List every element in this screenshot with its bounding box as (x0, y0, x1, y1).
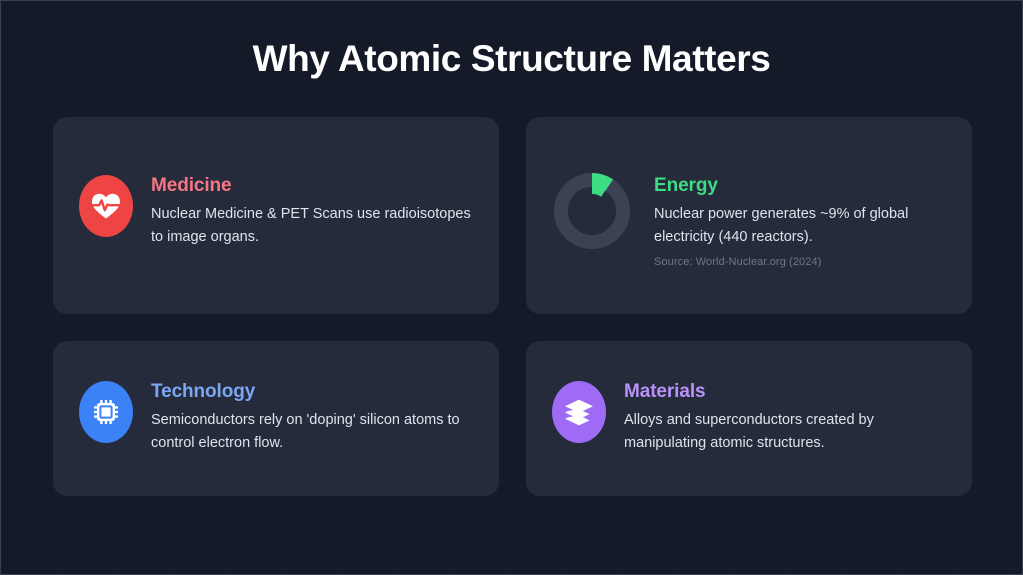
card-heading: Materials (624, 382, 946, 403)
card-description: Nuclear power generates ~9% of global el… (654, 203, 946, 249)
card-energy[interactable]: Energy Nuclear power generates ~9% of gl… (526, 117, 972, 314)
card-heading: Energy (654, 176, 946, 197)
microchip-icon (79, 381, 133, 443)
card-technology[interactable]: Technology Semiconductors rely on 'dopin… (53, 341, 499, 496)
page-title: Why Atomic Structure Matters (1, 1, 1022, 81)
slide-canvas: Why Atomic Structure Matters Medicine Nu… (0, 0, 1023, 575)
card-description: Alloys and superconductors created by ma… (624, 409, 946, 455)
card-medicine[interactable]: Medicine Nuclear Medicine & PET Scans us… (53, 117, 499, 314)
card-description: Nuclear Medicine & PET Scans use radiois… (151, 203, 473, 249)
card-source-citation: Source: World-Nuclear.org (2024) (654, 256, 946, 268)
card-heading: Technology (151, 382, 473, 403)
card-body: Energy Nuclear power generates ~9% of gl… (654, 175, 946, 268)
heart-pulse-icon (79, 175, 133, 237)
card-body: Medicine Nuclear Medicine & PET Scans us… (151, 175, 473, 249)
card-materials[interactable]: Materials Alloys and superconductors cre… (526, 341, 972, 496)
card-description: Semiconductors rely on 'doping' silicon … (151, 409, 473, 455)
card-body: Technology Semiconductors rely on 'dopin… (151, 381, 473, 455)
donut-chart-icon (552, 171, 632, 251)
layers-icon (552, 381, 606, 443)
card-grid: Medicine Nuclear Medicine & PET Scans us… (53, 117, 972, 496)
card-body: Materials Alloys and superconductors cre… (624, 381, 946, 455)
card-heading: Medicine (151, 176, 473, 197)
